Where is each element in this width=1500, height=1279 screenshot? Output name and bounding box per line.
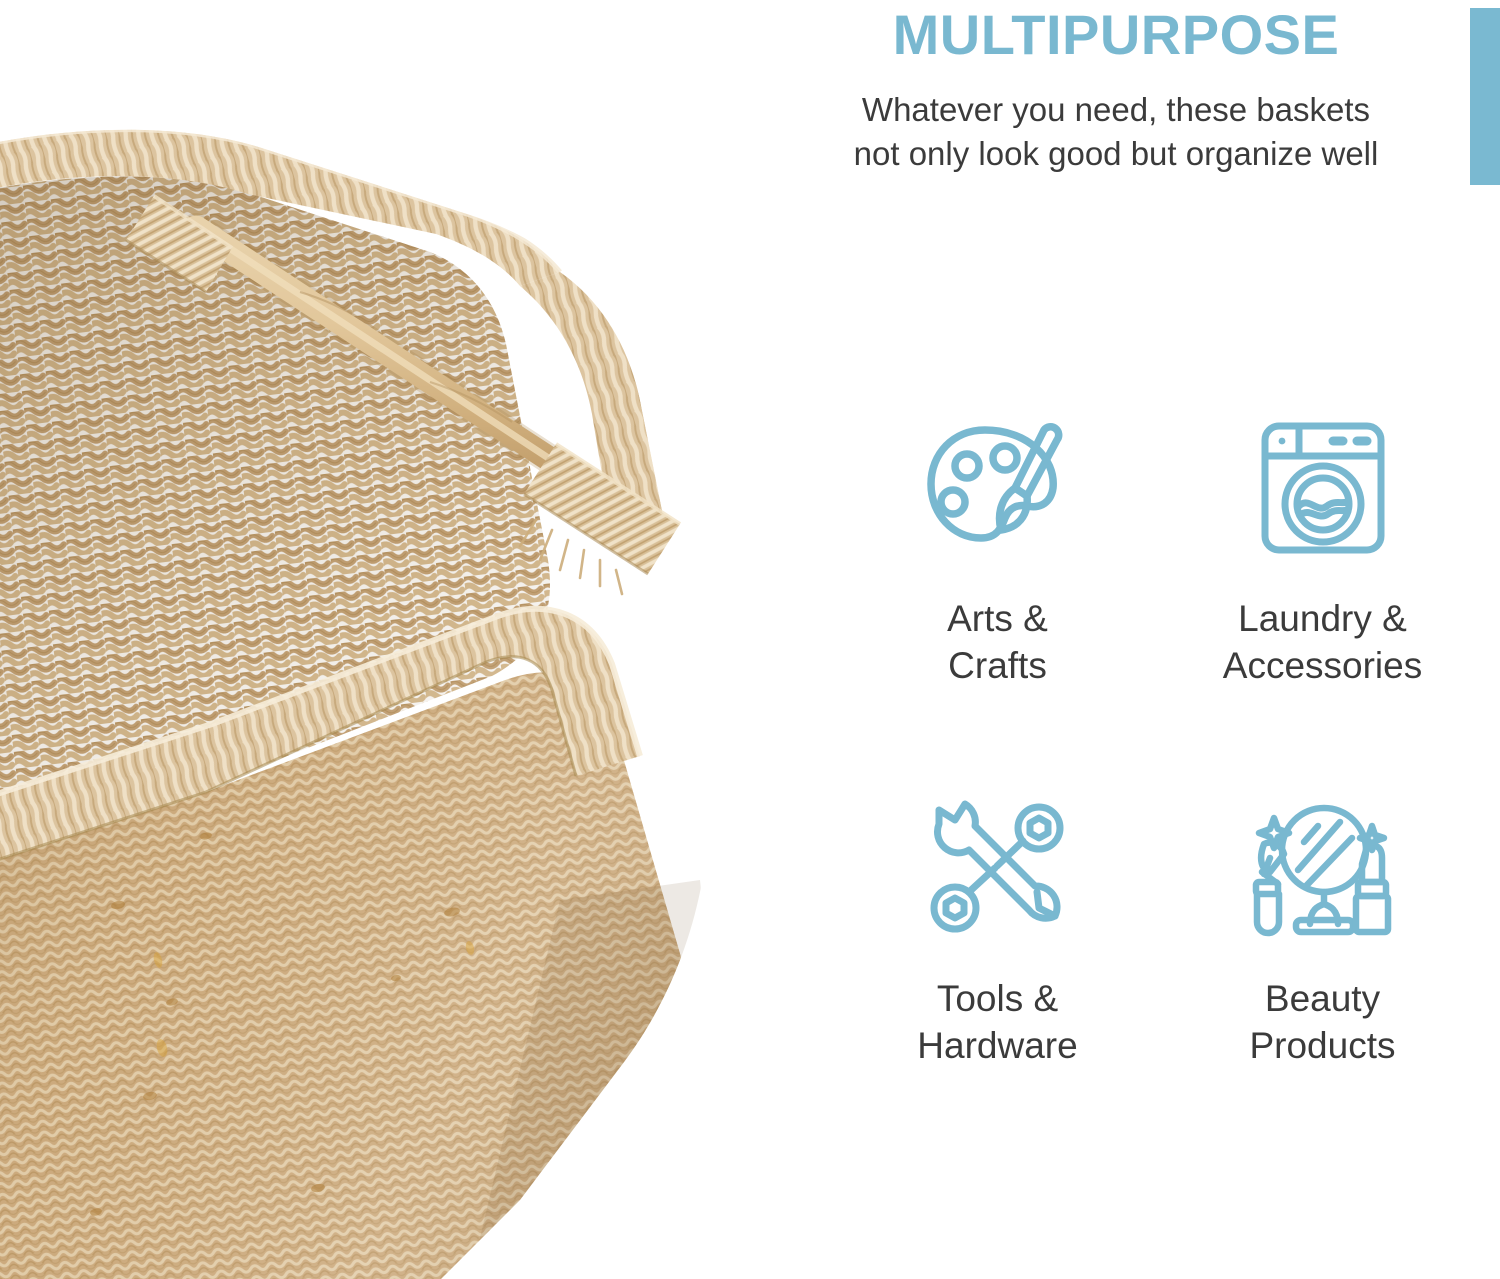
feature-label: Beauty Products <box>1249 976 1395 1069</box>
feature-beauty-products: Beauty Products <box>1165 785 1480 1069</box>
feature-label-line-1: Laundry & <box>1223 596 1422 643</box>
subtitle-line-1: Whatever you need, these baskets <box>780 88 1452 132</box>
subtitle-line-2: not only look good but organize well <box>780 132 1452 176</box>
feature-label-line-2: Products <box>1249 1023 1395 1070</box>
feature-grid: Arts & Crafts <box>840 405 1480 1069</box>
feature-label: Laundry & Accessories <box>1223 596 1422 689</box>
accent-bar <box>1470 8 1500 185</box>
washing-machine-icon <box>1233 405 1413 570</box>
feature-laundry-accessories: Laundry & Accessories <box>1165 405 1480 689</box>
paint-palette-icon <box>908 405 1088 570</box>
feature-label-line-2: Accessories <box>1223 643 1422 690</box>
feature-label-line-2: Hardware <box>917 1023 1077 1070</box>
feature-label: Tools & Hardware <box>917 976 1077 1069</box>
content-pane: MULTIPURPOSE Whatever you need, these ba… <box>780 0 1500 1279</box>
subtitle: Whatever you need, these baskets not onl… <box>780 88 1452 175</box>
product-infographic: MULTIPURPOSE Whatever you need, these ba… <box>0 0 1500 1279</box>
crossed-wrenches-icon <box>908 785 1088 950</box>
page-title: MULTIPURPOSE <box>780 2 1452 67</box>
feature-arts-crafts: Arts & Crafts <box>840 405 1155 689</box>
feature-label-line-1: Beauty <box>1249 976 1395 1023</box>
feature-tools-hardware: Tools & Hardware <box>840 785 1155 1069</box>
vanity-mirror-makeup-icon <box>1233 785 1413 950</box>
feature-label: Arts & Crafts <box>947 596 1048 689</box>
product-photo <box>0 0 800 1279</box>
feature-label-line-2: Crafts <box>947 643 1048 690</box>
feature-label-line-1: Tools & <box>917 976 1077 1023</box>
feature-label-line-1: Arts & <box>947 596 1048 643</box>
